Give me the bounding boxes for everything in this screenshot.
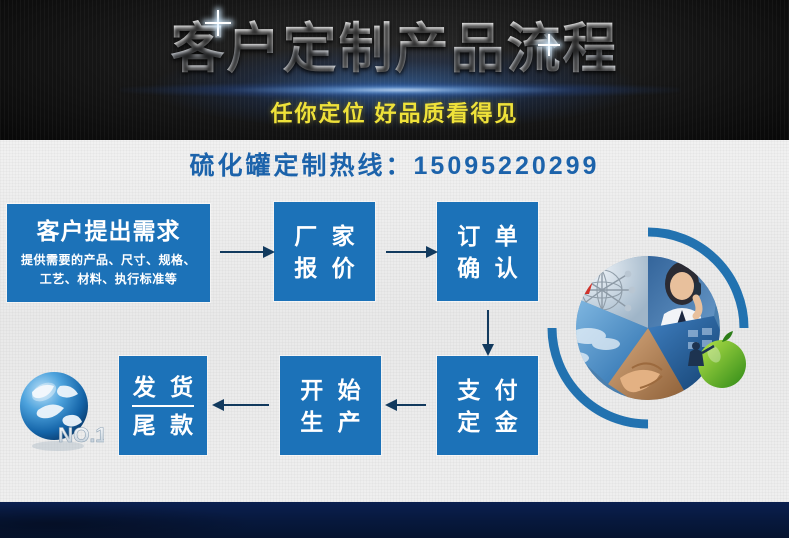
flow-step-start-production[interactable]: 开 始 生 产 xyxy=(280,356,381,455)
globe-label: NO.1 xyxy=(58,424,104,447)
flow-step-line: 开 始 xyxy=(296,374,364,406)
page-title: 客户定制产品流程 xyxy=(0,13,789,85)
footer-shadow xyxy=(0,502,260,538)
flow-step-subline: 提供需要的产品、尺寸、规格、 xyxy=(21,251,196,270)
flow-step-line: 尾 款 xyxy=(129,410,197,440)
flow-step-subline: 工艺、材料、执行标准等 xyxy=(40,270,178,289)
footer-band xyxy=(0,502,789,538)
arrow-right-icon xyxy=(220,251,264,253)
arrow-left-icon xyxy=(396,404,426,406)
flow-step-line: 报 价 xyxy=(290,252,358,284)
flow-step-line: 定 金 xyxy=(453,406,521,438)
arrow-down-icon xyxy=(487,310,489,345)
page-subtitle: 任你定位 好品质看得见 xyxy=(0,99,789,129)
flow-step-line: 支 付 xyxy=(453,374,521,406)
blue-globe-logo: NO.1 xyxy=(8,362,104,458)
flow-step-factory-quote[interactable]: 厂 家 报 价 xyxy=(274,202,375,301)
arrow-left-icon xyxy=(223,404,269,406)
flow-step-line: 厂 家 xyxy=(290,220,358,252)
header-band: 客户定制产品流程 任你定位 好品质看得见 xyxy=(0,0,789,140)
flow-step-line: 发 货 xyxy=(129,372,197,402)
flow-step-customer-request[interactable]: 客户提出需求 提供需要的产品、尺寸、规格、 工艺、材料、执行标准等 xyxy=(7,204,210,302)
flow-step-pay-deposit[interactable]: 支 付 定 金 xyxy=(437,356,538,455)
arrow-right-icon xyxy=(386,251,427,253)
hotline-text: 硫化罐定制热线：15095220299 xyxy=(0,150,789,182)
flow-step-line: 确 认 xyxy=(453,252,521,284)
flow-step-title: 客户提出需求 xyxy=(37,215,181,247)
promo-banner: 客户定制产品流程 任你定位 好品质看得见 硫化罐定制热线：15095220299 xyxy=(0,0,789,538)
flow-step-divider xyxy=(132,405,194,407)
flow-step-ship-balance[interactable]: 发 货 尾 款 xyxy=(119,356,207,455)
business-collage-graphic xyxy=(536,198,784,458)
flow-step-line: 订 单 xyxy=(453,220,521,252)
flow-step-order-confirm[interactable]: 订 单 确 认 xyxy=(437,202,538,301)
flow-step-line: 生 产 xyxy=(296,406,364,438)
